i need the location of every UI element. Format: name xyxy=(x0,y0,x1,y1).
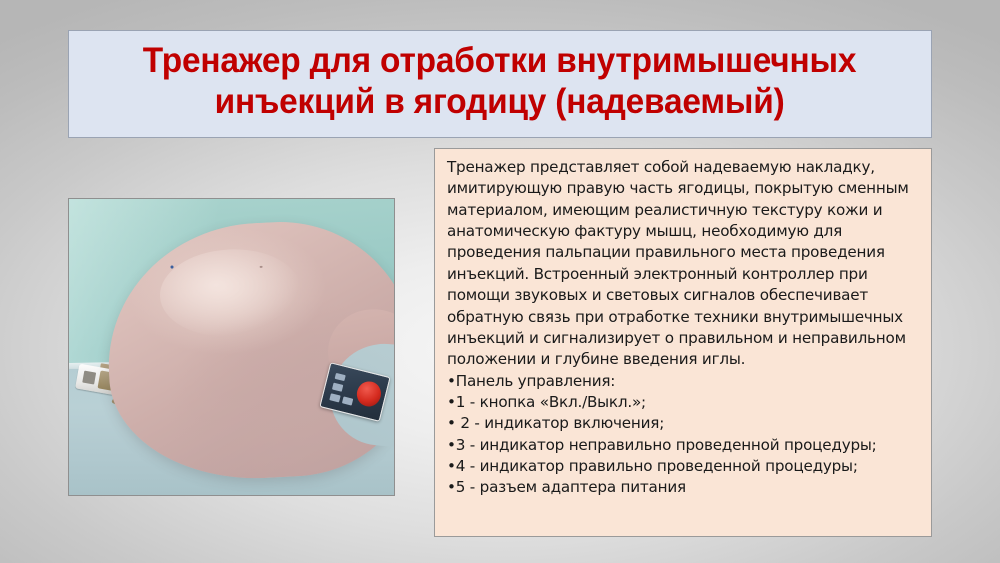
control-panel-bullet-1: •1 - кнопка «Вкл./Выкл.»; xyxy=(447,392,921,413)
control-panel-bullet-2: • 2 - индикатор включения; xyxy=(447,413,921,434)
photo-power-button xyxy=(354,379,383,409)
control-panel-bullet-0: •Панель управления: xyxy=(447,371,921,392)
description-paragraph: Тренажер представляет собой надеваемую н… xyxy=(447,157,921,371)
photo-led-indicator-1 xyxy=(335,373,346,382)
product-photo xyxy=(69,199,394,495)
photo-led-indicator-4 xyxy=(330,393,341,402)
control-panel-bullet-4: •4 - индикатор правильно проведенной про… xyxy=(447,456,921,477)
control-panel-bullet-5: •5 - разъем адаптера питания xyxy=(447,477,921,498)
photo-led-indicator-3 xyxy=(342,397,353,406)
product-photo-frame xyxy=(68,198,395,496)
photo-led-indicator-2 xyxy=(332,383,343,392)
control-panel-bullet-3: •3 - индикатор неправильно проведенной п… xyxy=(447,435,921,456)
photo-pad-mark xyxy=(259,266,262,268)
page-title: Тренажер для отработки внутримышечных ин… xyxy=(143,41,856,122)
description-panel: Тренажер представляет собой надеваемую н… xyxy=(434,148,932,537)
title-banner: Тренажер для отработки внутримышечных ин… xyxy=(68,30,932,138)
photo-pad-highlight xyxy=(158,246,303,340)
description-text: Тренажер представляет собой надеваемую н… xyxy=(447,157,921,499)
slide: Тренажер для отработки внутримышечных ин… xyxy=(0,0,1000,563)
